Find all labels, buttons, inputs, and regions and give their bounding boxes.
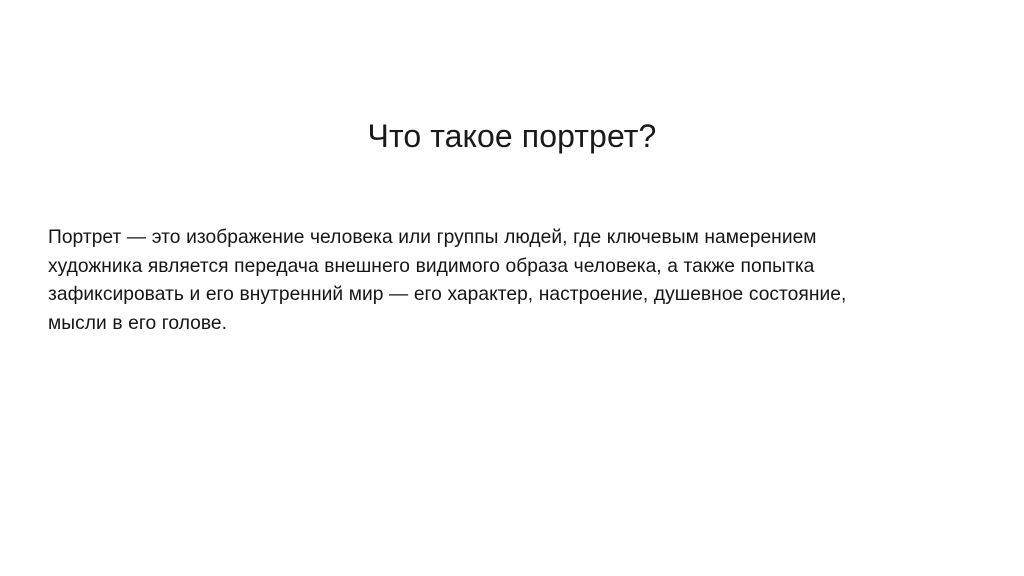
body-paragraph: Портрет — это изображение человека или г…	[48, 224, 854, 338]
page-title: Что такое портрет?	[0, 117, 1024, 155]
slide-body-text: Портрет — это изображение человека или г…	[48, 224, 854, 338]
slide-canvas: Что такое портрет? Портрет — это изображ…	[0, 0, 1024, 576]
